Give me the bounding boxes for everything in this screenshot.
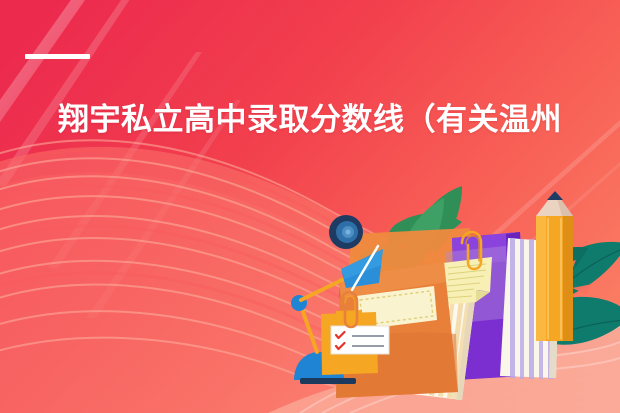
pencil-icon [536,191,573,341]
article-cover-banner: 翔宇私立高中录取分数线（有关温州 [0,0,620,413]
stationery-illustration [0,0,620,413]
